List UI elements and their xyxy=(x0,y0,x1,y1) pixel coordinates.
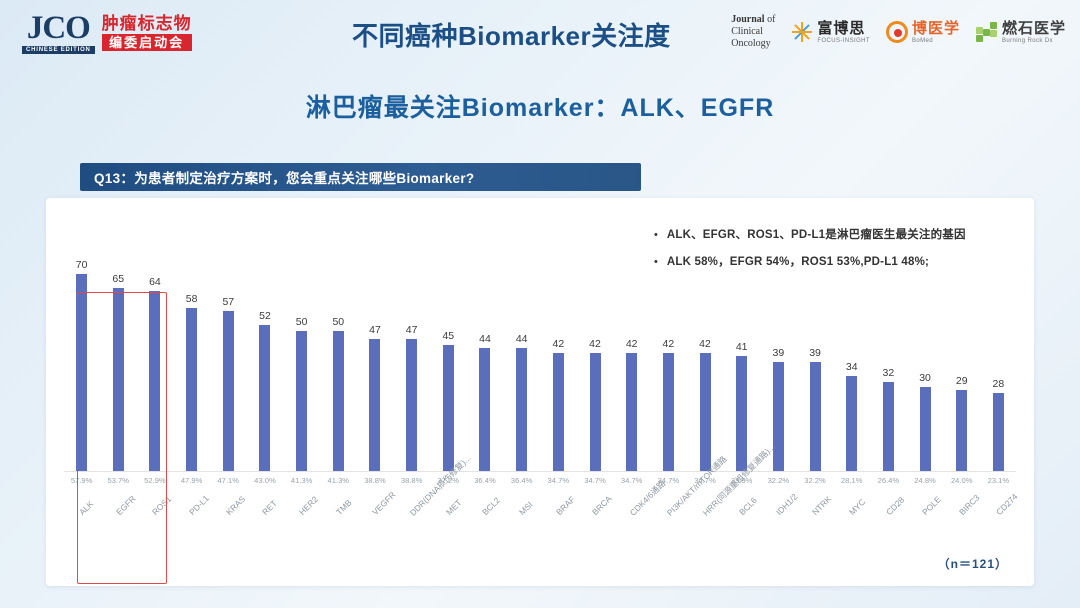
starburst-icon xyxy=(791,21,813,43)
bar-value-label: 47 xyxy=(406,324,418,336)
x-axis-tick-label: PD-L1 xyxy=(187,493,211,517)
bar-value-label: 34 xyxy=(846,361,858,373)
event-logo-line2: 编委启动会 xyxy=(102,34,192,51)
x-axis-tick-label: NTRK xyxy=(810,494,833,517)
bar-percent-label: 24.8% xyxy=(907,476,942,490)
x-axis-tick: NTRK xyxy=(797,508,832,584)
bar-column: 34 xyxy=(834,260,869,472)
x-axis-tick: MSI xyxy=(504,508,539,584)
x-axis-tick-label: EGFR xyxy=(114,494,138,518)
bar-percent-label: 36.4% xyxy=(504,476,539,490)
bar-column: 28 xyxy=(981,260,1016,472)
x-axis-tick: CD28 xyxy=(871,508,906,584)
x-axis-tick: BRCA xyxy=(577,508,612,584)
bar-percent-label: 34.7% xyxy=(577,476,612,490)
bar xyxy=(369,339,380,472)
bar-percent-label: 24.0% xyxy=(944,476,979,490)
x-axis-tick-label: RET xyxy=(260,498,279,517)
bar xyxy=(956,390,967,472)
blocks-icon xyxy=(976,21,998,43)
x-axis-tick-label: ROS1 xyxy=(150,494,173,517)
bar-value-label: 28 xyxy=(993,378,1005,390)
x-axis-tick-label: MET xyxy=(444,497,464,517)
bar xyxy=(883,382,894,472)
journal-line3: Oncology xyxy=(731,38,775,50)
bar-column: 47 xyxy=(357,260,392,472)
bar xyxy=(626,353,637,472)
x-axis-tick: DDR(DNA损伤修复)... xyxy=(394,508,429,584)
bar-value-label: 65 xyxy=(112,273,124,285)
bar-column: 47 xyxy=(394,260,429,472)
bar-value-label: 52 xyxy=(259,310,271,322)
x-axis-labels: ALKEGFRROS1PD-L1KRASRETHER2TMBVEGFRDDR(D… xyxy=(64,508,1016,584)
bar-column: 30 xyxy=(907,260,942,472)
bar-column: 32 xyxy=(871,260,906,472)
bar-column: 50 xyxy=(284,260,319,472)
question-banner: Q13：为患者制定治疗方案时，您会重点关注哪些Biomarker? xyxy=(80,163,641,191)
x-axis-tick: BCL6 xyxy=(724,508,759,584)
bar xyxy=(406,339,417,472)
bar-column: 42 xyxy=(687,260,722,472)
bar xyxy=(149,291,160,472)
partner-logos: Journal of Clinical Oncology 富博思 FOCUS-I… xyxy=(731,14,1066,50)
bar-column: 45 xyxy=(431,260,466,472)
x-axis-tick-label: BRAF xyxy=(554,494,577,517)
bar-percent-label: 36.4% xyxy=(467,476,502,490)
bar xyxy=(810,362,821,472)
bar xyxy=(333,331,344,472)
bar-value-label: 30 xyxy=(919,372,931,384)
x-axis-tick-label: BCL2 xyxy=(480,495,502,517)
x-axis-tick-label: BRCA xyxy=(590,494,614,518)
bar xyxy=(590,353,601,472)
bar-column: 58 xyxy=(174,260,209,472)
journal-line2: Clinical xyxy=(731,26,775,38)
bar-value-label: 41 xyxy=(736,341,748,353)
page-title: 不同癌种Biomarker关注度 xyxy=(352,16,671,53)
x-axis-tick: EGFR xyxy=(101,508,136,584)
bar-percent-label: 41.3% xyxy=(284,476,319,490)
bar-column: 44 xyxy=(504,260,539,472)
bar-value-label: 42 xyxy=(663,338,675,350)
x-axis-tick-label: POLE xyxy=(920,494,943,517)
bar-value-label: 39 xyxy=(773,347,785,359)
bar xyxy=(773,362,784,472)
bar-percent-label: 32.2% xyxy=(761,476,796,490)
x-axis-tick: RET xyxy=(247,508,282,584)
bar-percent-label: 32.2% xyxy=(797,476,832,490)
bar xyxy=(296,331,307,472)
x-axis-tick: IDH1/2 xyxy=(761,508,796,584)
bar xyxy=(920,387,931,472)
focus-insight-logo: 富博思 FOCUS-INSIGHT xyxy=(791,21,870,44)
bar-value-label: 42 xyxy=(699,338,711,350)
x-axis-tick: KRAS xyxy=(211,508,246,584)
x-axis-tick-label: HER2 xyxy=(297,494,320,517)
bar-column: 41 xyxy=(724,260,759,472)
burning-rock-en: Burning Rock Dx xyxy=(1002,38,1066,44)
x-axis-tick-label: KRAS xyxy=(224,494,247,517)
bar-percent-label: 34.7% xyxy=(541,476,576,490)
bar-value-label: 58 xyxy=(186,293,198,305)
ring-icon xyxy=(886,21,908,43)
bar-column: 65 xyxy=(101,260,136,472)
bar xyxy=(553,353,564,472)
sample-size-note: （n＝121） xyxy=(938,555,1008,572)
focus-insight-cn: 富博思 xyxy=(817,21,870,36)
bar-column: 44 xyxy=(467,260,502,472)
x-axis-tick: ALK xyxy=(64,508,99,584)
x-axis-tick: BRAF xyxy=(541,508,576,584)
bar xyxy=(700,353,711,472)
x-axis-tick-label: TMB xyxy=(334,497,354,517)
event-logo-line1: 肿瘤标志物 xyxy=(102,15,192,32)
slide-header: JCO CHINESE EDITION 肿瘤标志物 编委启动会 不同癌种Biom… xyxy=(0,0,1080,78)
bar-value-label: 29 xyxy=(956,375,968,387)
bar xyxy=(663,353,674,472)
bar xyxy=(993,393,1004,472)
bar xyxy=(479,348,490,472)
bar-percent-label: 34.7% xyxy=(614,476,649,490)
bar-value-label: 45 xyxy=(442,330,454,342)
x-axis-tick-label: CD28 xyxy=(884,495,906,517)
burning-rock-cn: 燃石医学 xyxy=(1002,21,1066,36)
slide-subtitle: 淋巴瘤最关注Biomarker：ALK、EGFR xyxy=(0,88,1080,124)
bar-value-label: 42 xyxy=(626,338,638,350)
bar-percent-label: 41.3% xyxy=(321,476,356,490)
bar-series: 7065645857525050474745444442424242424139… xyxy=(64,260,1016,472)
journal-of-clinical-oncology-logo: Journal of Clinical Oncology xyxy=(731,14,775,50)
bar-value-label: 50 xyxy=(332,316,344,328)
x-axis-tick: VEGFR xyxy=(357,508,392,584)
x-axis-tick: HRR(同源重组修复通路)... xyxy=(687,508,722,584)
bullet-item: • ALK、EFGR、ROS1、PD-L1是淋巴瘤医生最关注的基因 xyxy=(654,228,1024,242)
bar-value-label: 70 xyxy=(76,259,88,271)
bar-value-label: 42 xyxy=(589,338,601,350)
bar-value-label: 42 xyxy=(552,338,564,350)
bar xyxy=(443,345,454,472)
bar xyxy=(76,274,87,472)
bar-percent-label: 47.1% xyxy=(211,476,246,490)
bar xyxy=(113,288,124,472)
bar-column: 64 xyxy=(137,260,172,472)
bar-percent-label: 52.9% xyxy=(137,476,172,490)
bomed-logo: 博医学 BoMed xyxy=(886,21,960,44)
x-axis-tick: HER2 xyxy=(284,508,319,584)
bullet-text: ALK、EFGR、ROS1、PD-L1是淋巴瘤医生最关注的基因 xyxy=(667,228,966,242)
bar-column: 52 xyxy=(247,260,282,472)
bar-column: 50 xyxy=(321,260,356,472)
bar-percent-label: 43.0% xyxy=(247,476,282,490)
journal-line1b: of xyxy=(765,14,776,25)
x-axis-tick: CD274 xyxy=(981,508,1016,584)
x-axis-tick: MET xyxy=(431,508,466,584)
bar-column: 42 xyxy=(577,260,612,472)
bar-percent-label: 47.9% xyxy=(174,476,209,490)
x-axis-tick: CDK4/6通路 xyxy=(614,508,649,584)
bar-percent-label: 57.9% xyxy=(64,476,99,490)
bar-column: 42 xyxy=(651,260,686,472)
bar xyxy=(736,356,747,472)
bar-value-label: 44 xyxy=(516,333,528,345)
slide: JCO CHINESE EDITION 肿瘤标志物 编委启动会 不同癌种Biom… xyxy=(0,0,1080,608)
burning-rock-logo: 燃石医学 Burning Rock Dx xyxy=(976,21,1066,44)
x-axis-tick-label: IDH1/2 xyxy=(774,492,800,518)
axis-baseline xyxy=(64,471,1016,472)
percent-label-row: 57.9%53.7%52.9%47.9%47.1%43.0%41.3%41.3%… xyxy=(64,476,1016,490)
bar-column: 39 xyxy=(797,260,832,472)
jco-edition-tag: CHINESE EDITION xyxy=(22,46,95,54)
bar-value-label: 39 xyxy=(809,347,821,359)
bar-percent-label: 26.4% xyxy=(871,476,906,490)
focus-insight-en: FOCUS-INSIGHT xyxy=(817,38,870,44)
bar-percent-label: 23.1% xyxy=(981,476,1016,490)
bar-percent-label: 53.7% xyxy=(101,476,136,490)
x-axis-tick: BIRC3 xyxy=(944,508,979,584)
bar xyxy=(223,311,234,472)
jco-wordmark: JCO CHINESE EDITION xyxy=(22,12,95,54)
bar-value-label: 32 xyxy=(883,367,895,379)
x-axis-tick: ROS1 xyxy=(137,508,172,584)
bullet-dot-icon: • xyxy=(654,228,658,242)
chart-card: • ALK、EFGR、ROS1、PD-L1是淋巴瘤医生最关注的基因 • ALK … xyxy=(46,198,1034,586)
x-axis-tick-label: MYC xyxy=(847,497,867,517)
x-axis-tick: PI3K/AKT/mTOR通路 xyxy=(651,508,686,584)
bar-value-label: 44 xyxy=(479,333,491,345)
bar-column: 39 xyxy=(761,260,796,472)
bar-percent-label: 38.8% xyxy=(394,476,429,490)
x-axis-tick: POLE xyxy=(907,508,942,584)
x-axis-tick-label: BIRC3 xyxy=(957,493,982,518)
bar xyxy=(259,325,270,472)
bar-percent-label: 28.1% xyxy=(834,476,869,490)
bar-chart: 7065645857525050474745444442424242424139… xyxy=(64,246,1016,508)
x-axis-tick: PD-L1 xyxy=(174,508,209,584)
x-axis-tick-label: MSI xyxy=(517,499,535,517)
bar xyxy=(846,376,857,472)
bar xyxy=(186,308,197,472)
bar xyxy=(516,348,527,472)
x-axis-tick: TMB xyxy=(321,508,356,584)
bar-value-label: 47 xyxy=(369,324,381,336)
focus-insight-text: 富博思 FOCUS-INSIGHT xyxy=(817,21,870,44)
bomed-cn: 博医学 xyxy=(912,21,960,36)
bar-percent-label: 38.8% xyxy=(357,476,392,490)
x-axis-tick-label: BCL6 xyxy=(737,495,759,517)
x-axis-tick-label: ALK xyxy=(77,499,95,517)
bomed-text: 博医学 BoMed xyxy=(912,21,960,44)
bar-column: 70 xyxy=(64,260,99,472)
event-logo-cn: 肿瘤标志物 编委启动会 xyxy=(102,15,192,51)
bar-column: 29 xyxy=(944,260,979,472)
bar-column: 42 xyxy=(614,260,649,472)
bar-value-label: 50 xyxy=(296,316,308,328)
jco-chinese-edition-logo: JCO CHINESE EDITION 肿瘤标志物 编委启动会 xyxy=(22,12,192,54)
question-banner-text: Q13：为患者制定治疗方案时，您会重点关注哪些Biomarker? xyxy=(94,167,474,187)
journal-line1: Journal xyxy=(731,14,764,25)
bar-column: 42 xyxy=(541,260,576,472)
jco-text: JCO xyxy=(27,12,90,45)
x-axis-tick: MYC xyxy=(834,508,869,584)
bomed-en: BoMed xyxy=(912,38,960,44)
bar-value-label: 64 xyxy=(149,276,161,288)
x-axis-tick-label: CD274 xyxy=(994,492,1020,518)
bar-column: 57 xyxy=(211,260,246,472)
bar-value-label: 57 xyxy=(222,296,234,308)
burning-rock-text: 燃石医学 Burning Rock Dx xyxy=(1002,21,1066,44)
x-axis-tick: BCL2 xyxy=(467,508,502,584)
